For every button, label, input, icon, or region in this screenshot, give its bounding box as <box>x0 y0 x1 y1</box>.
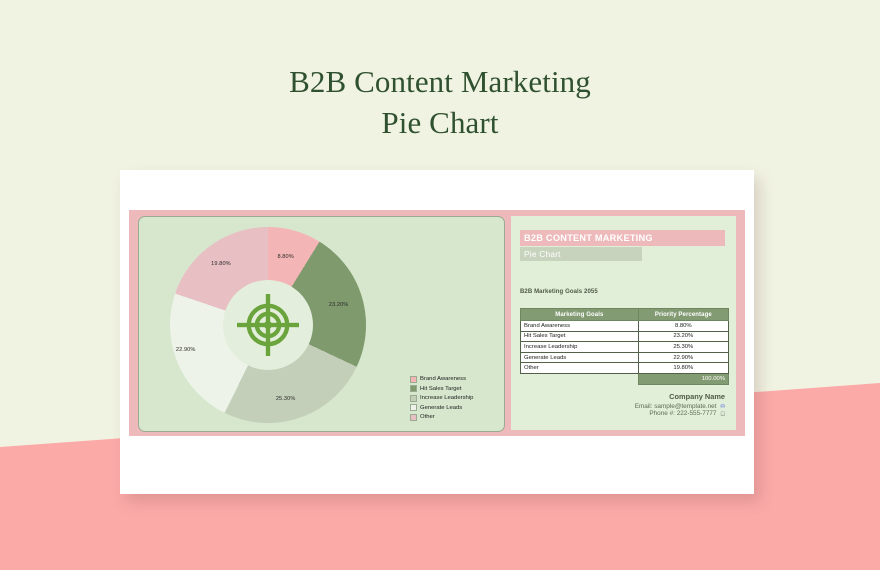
cell-total-blank <box>521 373 639 384</box>
legend-swatch-icon <box>410 385 417 392</box>
cell-percentage: 19.80% <box>638 363 728 374</box>
table-caption: B2B Marketing Goals 2055 <box>520 289 598 295</box>
phone-icon <box>720 411 726 417</box>
legend-label: Hit Sales Target <box>420 386 461 392</box>
cell-percentage: 25.30% <box>638 342 728 353</box>
company-contact-block: Company Name Email: sample@template.net … <box>635 392 725 417</box>
slice-label-generate-leads: 22.90% <box>176 347 196 353</box>
info-subtitle-band: Pie Chart <box>520 247 642 261</box>
legend-swatch-icon <box>410 414 417 421</box>
company-name: Company Name <box>635 392 725 401</box>
legend-label: Brand Awareness <box>420 376 466 382</box>
legend-label: Increase Leadership <box>420 395 473 401</box>
slide-frame: 8.80% 23.20% 25.30% 22.90% 19.80% Brand … <box>129 210 745 436</box>
cell-goal: Other <box>521 363 639 374</box>
slice-label-increase-leadership: 25.30% <box>276 396 296 402</box>
cell-percentage: 22.90% <box>638 352 728 363</box>
legend-label: Generate Leads <box>420 405 462 411</box>
info-panel: B2B CONTENT MARKETING Pie Chart B2B Mark… <box>511 216 736 430</box>
slice-label-other: 19.80% <box>211 261 231 267</box>
page-title: B2B Content Marketing Pie Chart <box>0 62 880 143</box>
column-header-goals: Marketing Goals <box>521 309 639 321</box>
cell-percentage: 23.20% <box>638 331 728 342</box>
table-total-row: 100.00% <box>521 373 729 384</box>
legend-item-other[interactable]: Other <box>410 414 498 421</box>
cell-goal: Hit Sales Target <box>521 331 639 342</box>
cell-goal: Increase Leadership <box>521 342 639 353</box>
legend-item-increase-leadership[interactable]: Increase Leadership <box>410 395 498 402</box>
company-phone-line: Phone #: 222-555-7777 <box>635 410 725 417</box>
cell-percentage: 8.80% <box>638 321 728 332</box>
company-email-line: Email: sample@template.net <box>635 403 725 410</box>
table-row: Other 19.80% <box>521 363 729 374</box>
table-row: Generate Leads 22.90% <box>521 352 729 363</box>
slice-label-hit-sales-target: 23.20% <box>329 302 349 308</box>
info-title-band: B2B CONTENT MARKETING <box>520 230 725 246</box>
table-row: Hit Sales Target 23.20% <box>521 331 729 342</box>
cell-goal: Generate Leads <box>521 352 639 363</box>
donut-chart: 8.80% 23.20% 25.30% 22.90% 19.80% <box>170 227 366 423</box>
company-phone: Phone #: 222-555-7777 <box>649 410 716 417</box>
info-title: B2B CONTENT MARKETING <box>524 233 653 243</box>
envelope-icon <box>720 403 726 409</box>
target-crosshair-icon <box>237 294 299 356</box>
legend-swatch-icon <box>410 395 417 402</box>
cell-total-value: 100.00% <box>638 373 728 384</box>
table-row: Increase Leadership 25.30% <box>521 342 729 353</box>
slide-card: 8.80% 23.20% 25.30% 22.90% 19.80% Brand … <box>120 170 754 494</box>
chart-panel: 8.80% 23.20% 25.30% 22.90% 19.80% Brand … <box>138 216 505 432</box>
legend-item-hit-sales-target[interactable]: Hit Sales Target <box>410 385 498 392</box>
info-subtitle: Pie Chart <box>524 249 561 259</box>
chart-legend: Brand Awareness Hit Sales Target Increas… <box>410 376 498 424</box>
table-header-row: Marketing Goals Priority Percentage <box>521 309 729 321</box>
legend-label: Other <box>420 414 435 420</box>
legend-swatch-icon <box>410 404 417 411</box>
company-email: Email: sample@template.net <box>635 403 717 410</box>
legend-item-brand-awareness[interactable]: Brand Awareness <box>410 376 498 383</box>
cell-goal: Brand Awareness <box>521 321 639 332</box>
legend-swatch-icon <box>410 376 417 383</box>
marketing-goals-table: Marketing Goals Priority Percentage Bran… <box>520 308 729 385</box>
legend-item-generate-leads[interactable]: Generate Leads <box>410 404 498 411</box>
slice-label-brand-awareness: 8.80% <box>277 254 293 260</box>
table-row: Brand Awareness 8.80% <box>521 321 729 332</box>
column-header-percentage: Priority Percentage <box>638 309 728 321</box>
